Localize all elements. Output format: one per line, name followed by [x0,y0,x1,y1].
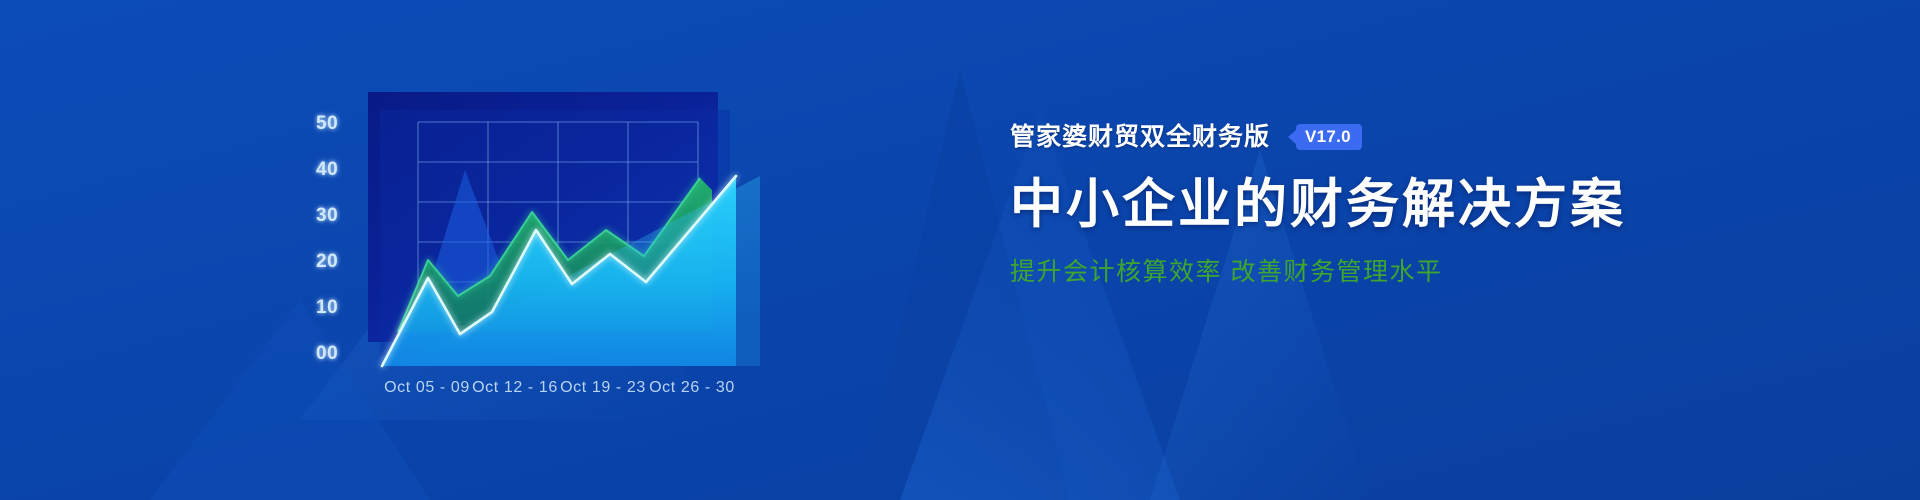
y-tick: 00 [316,343,338,364]
y-tick: 50 [316,113,338,134]
hero-copy: 管家婆财贸双全财务版 V17.0 中小企业的财务解决方案 提升会计核算效率 改善… [1010,120,1830,287]
headline: 中小企业的财务解决方案 [1010,176,1830,233]
y-tick: 10 [316,297,338,318]
x-tick: Oct 12 - 16 [472,379,558,396]
analytics-chart: 50 40 30 20 10 00 Oct 05 - 09 Oct 12 - 1… [300,70,920,410]
y-tick: 30 [316,205,338,226]
chart-x-axis: Oct 05 - 09 Oct 12 - 16 Oct 19 - 23 Oct … [384,379,735,396]
version-badge: V17.0 [1296,124,1362,150]
y-tick: 40 [316,159,338,180]
hero-banner: 50 40 30 20 10 00 Oct 05 - 09 Oct 12 - 1… [0,0,1920,500]
y-tick: 20 [316,251,338,272]
chart-y-axis: 50 40 30 20 10 00 [316,113,338,364]
chart-canvas: 50 40 30 20 10 00 Oct 05 - 09 Oct 12 - 1… [300,70,920,410]
x-tick: Oct 19 - 23 [560,379,646,396]
x-tick: Oct 05 - 09 [384,379,470,396]
product-name-row: 管家婆财贸双全财务版 V17.0 [1010,120,1830,154]
version-badge-wrap: V17.0 [1288,124,1362,150]
x-tick: Oct 26 - 30 [649,379,735,396]
product-name: 管家婆财贸双全财务版 [1010,120,1270,154]
subtitle: 提升会计核算效率 改善财务管理水平 [1010,257,1830,287]
badge-pointer-icon [1288,130,1296,144]
